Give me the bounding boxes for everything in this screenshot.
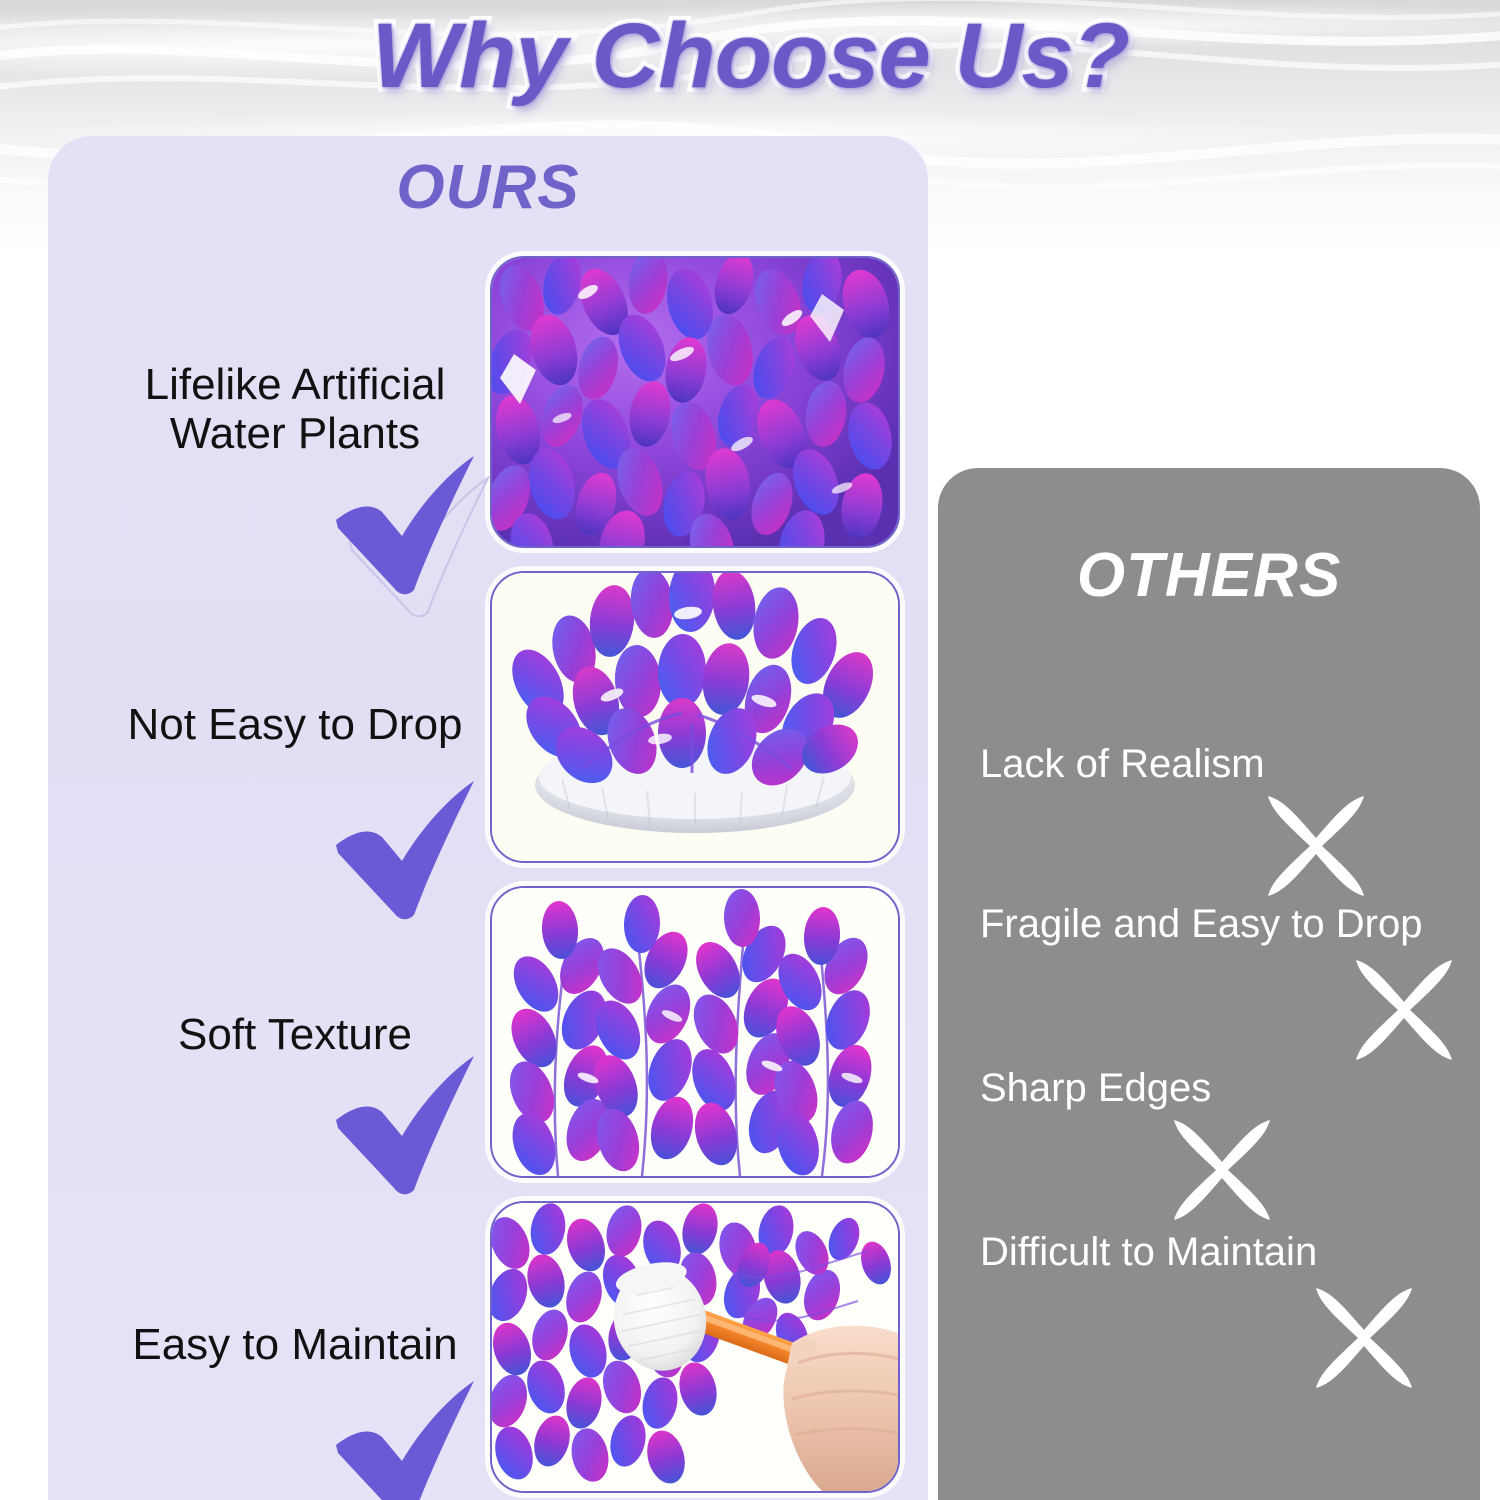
check-icon bbox=[310, 1375, 485, 1500]
product-photo-4 bbox=[490, 1201, 900, 1493]
ours-feature-label-4: Easy to Maintain bbox=[80, 1320, 510, 1369]
cross-icon bbox=[1260, 790, 1372, 902]
page-title-container: Why Choose Us? bbox=[0, 8, 1500, 105]
check-icon bbox=[310, 450, 485, 600]
others-panel-heading: OTHERS bbox=[938, 540, 1480, 611]
others-feature-row-2: Fragile and Easy to Drop bbox=[938, 902, 1480, 1062]
ours-feature-row-1: Lifelike Artificial Water Plants bbox=[60, 350, 520, 590]
others-feature-label-4: Difficult to Maintain bbox=[980, 1230, 1317, 1274]
product-photo-3 bbox=[490, 886, 900, 1178]
others-feature-label-1: Lack of Realism bbox=[980, 742, 1265, 786]
cross-icon bbox=[1348, 954, 1460, 1066]
page-title: Why Choose Us? bbox=[371, 8, 1128, 105]
cross-icon bbox=[1166, 1114, 1278, 1226]
infographic-canvas: Why Choose Us? OURS Lifelike Artificial … bbox=[0, 0, 1500, 1500]
ours-panel-heading: OURS bbox=[48, 152, 928, 223]
product-photo-1 bbox=[490, 256, 900, 548]
others-feature-label-2: Fragile and Easy to Drop bbox=[980, 902, 1422, 946]
ours-feature-row-2: Not Easy to Drop bbox=[60, 690, 520, 930]
ours-feature-label-2: Not Easy to Drop bbox=[80, 700, 510, 749]
others-feature-row-3: Sharp Edges bbox=[938, 1066, 1480, 1226]
cross-icon bbox=[1308, 1282, 1420, 1394]
others-feature-row-1: Lack of Realism bbox=[938, 742, 1480, 902]
ours-feature-row-4: Easy to Maintain bbox=[60, 1310, 520, 1500]
ours-feature-label-1: Lifelike Artificial Water Plants bbox=[80, 360, 510, 459]
product-photo-2 bbox=[490, 571, 900, 863]
others-feature-row-4: Difficult to Maintain bbox=[938, 1230, 1480, 1390]
check-icon bbox=[310, 775, 485, 925]
others-feature-label-3: Sharp Edges bbox=[980, 1066, 1211, 1110]
ours-feature-row-3: Soft Texture bbox=[60, 1000, 520, 1240]
check-icon bbox=[310, 1050, 485, 1200]
